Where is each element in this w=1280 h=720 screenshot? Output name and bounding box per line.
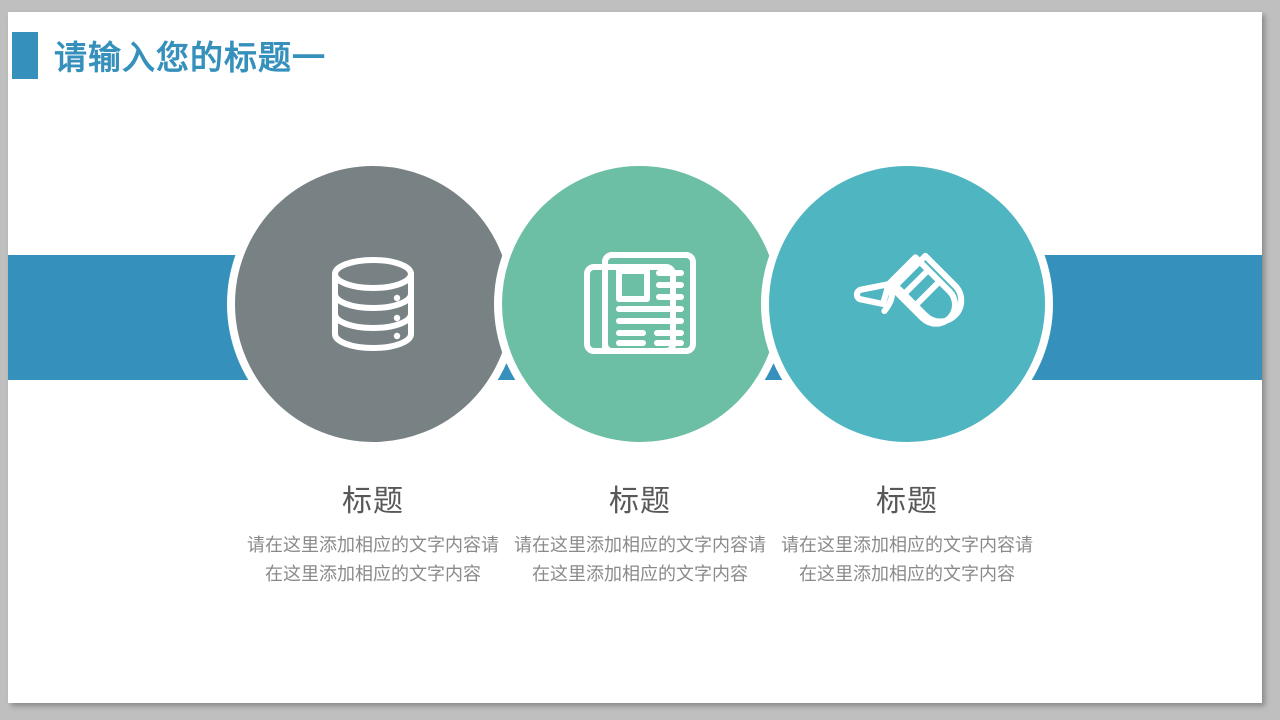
- feature-column-2: 标题 请在这里添加相应的文字内容请在这里添加相应的文字内容: [495, 482, 785, 589]
- feature-body-1: 请在这里添加相应的文字内容请在这里添加相应的文字内容: [228, 531, 518, 589]
- newspaper-icon: [581, 245, 699, 363]
- feature-column-3: 标题 请在这里添加相应的文字内容请在这里添加相应的文字内容: [762, 482, 1052, 589]
- feature-heading-1: 标题: [228, 482, 518, 522]
- feature-column-1: 标题 请在这里添加相应的文字内容请在这里添加相应的文字内容: [228, 482, 518, 589]
- feature-heading-3: 标题: [762, 482, 1052, 522]
- feature-body-3: 请在这里添加相应的文字内容请在这里添加相应的文字内容: [762, 531, 1052, 589]
- database-icon: [317, 248, 429, 360]
- feature-body-2: 请在这里添加相应的文字内容请在这里添加相应的文字内容: [495, 531, 785, 589]
- pencil-icon: [842, 239, 972, 369]
- feature-circle-3[interactable]: [761, 158, 1053, 450]
- feature-circle-2[interactable]: [494, 158, 786, 450]
- feature-heading-2: 标题: [495, 482, 785, 522]
- feature-circle-1[interactable]: [227, 158, 519, 450]
- circle-row: [8, 12, 1262, 703]
- slide-canvas: 请输入您的标题一: [8, 12, 1262, 703]
